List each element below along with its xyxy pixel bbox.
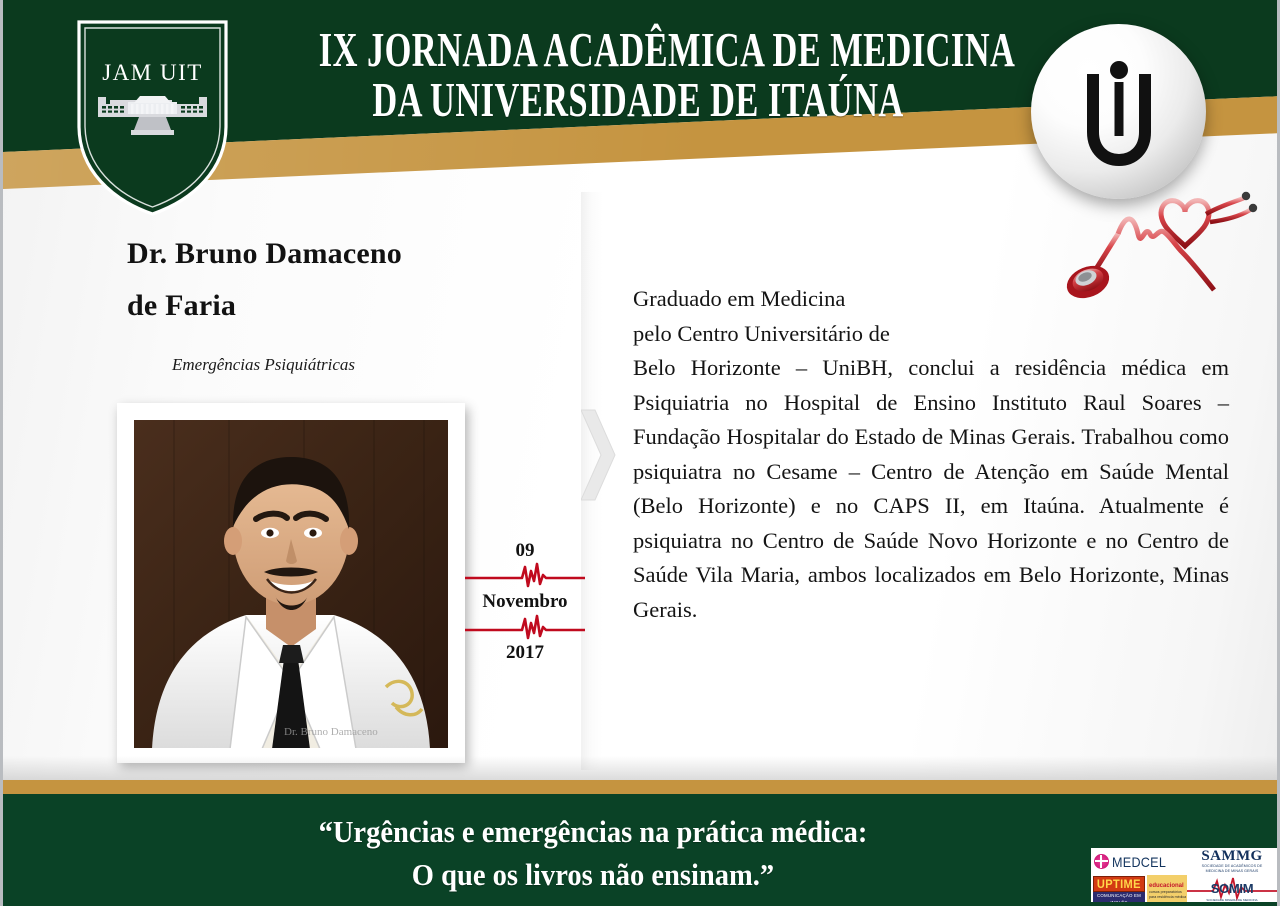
sponsor-logos: MEDCEL SAMMG SOCIEDADE DE ACADÊMICOS DE …	[1091, 848, 1277, 902]
ekg-heartbeat-rule-icon-top	[465, 562, 585, 590]
sponsor-educacional-label: educacional	[1149, 883, 1187, 890]
speaker-bio: Graduado em Medicina pelo Centro Univers…	[633, 282, 1229, 627]
sponsor-somim-label: SOMIM	[1211, 881, 1254, 896]
speaker-photo-frame: Dr. Bruno Damaceno	[117, 403, 465, 763]
tagline-line-1: “Urgências e emergências na prática médi…	[161, 810, 1026, 853]
event-poster: IX JORNADA ACADÊMICA DE MEDICINA DA UNIV…	[0, 0, 1280, 906]
event-date-month: Novembro	[465, 590, 585, 614]
sponsor-uptime-caption: COMUNICAÇÃO EM INGLÊS	[1093, 892, 1145, 902]
sponsor-educacional-sub-2: para residência médica	[1149, 895, 1187, 899]
bio-line-1: Graduado em Medicina	[633, 282, 1229, 317]
event-date-day: 09	[465, 540, 585, 562]
medcel-mark-icon	[1094, 854, 1109, 869]
title-line-2: DA UNIVERSIDADE DE ITAÚNA	[319, 70, 957, 129]
footer-sheen	[3, 756, 1280, 780]
event-tagline: “Urgências e emergências na prática médi…	[123, 810, 1063, 896]
jam-uit-shield-logo: JAM UIT	[65, 18, 240, 218]
svg-text:Dr. Bruno Damaceno: Dr. Bruno Damaceno	[284, 726, 378, 738]
shield-label: JAM UIT	[65, 60, 240, 86]
sponsor-somim: SOMIM SOCIEDADE MINEIRA DE MEDICINA	[1187, 875, 1277, 902]
tagline-line-2: O que os livros não ensinam.”	[161, 853, 1026, 896]
sponsor-row-2-left: UPTIME COMUNICAÇÃO EM INGLÊS educacional…	[1091, 875, 1187, 902]
ekg-heartbeat-rule-icon-bottom	[465, 614, 585, 642]
sponsor-uptime-label: UPTIME	[1097, 877, 1141, 891]
speaker-name-line-1: Dr. Bruno Damaceno	[127, 228, 557, 280]
speaker-photo: Dr. Bruno Damaceno	[134, 420, 448, 748]
event-date: 09 Novembro 2017	[465, 540, 585, 690]
chevron-right-icon	[581, 400, 619, 510]
sponsor-sammg-sub-2: MEDICINA DE MINAS GERAIS	[1187, 869, 1277, 874]
bio-line-2: pelo Centro Universitário de	[633, 317, 1229, 352]
sponsor-medcel: MEDCEL	[1091, 848, 1187, 875]
speaker-name: Dr. Bruno Damaceno de Faria	[127, 228, 557, 332]
page-title: IX JORNADA ACADÊMICA DE MEDICINA DA UNIV…	[258, 20, 1018, 120]
bio-body: Belo Horizonte – UniBH, conclui a residê…	[633, 355, 1229, 622]
event-date-year: 2017	[465, 642, 585, 664]
speaker-name-line-2: de Faria	[127, 280, 557, 332]
sponsor-uptime: UPTIME COMUNICAÇÃO EM INGLÊS	[1091, 875, 1147, 902]
speaker-topic: Emergências Psiquiátricas	[172, 355, 572, 375]
sponsor-sammg-label: SAMMG	[1187, 849, 1277, 864]
sponsor-sammg: SAMMG SOCIEDADE DE ACADÊMICOS DE MEDICIN…	[1187, 848, 1277, 875]
sponsor-somim-sub: SOCIEDADE MINEIRA DE MEDICINA	[1187, 898, 1277, 902]
sponsor-medcel-label: MEDCEL	[1112, 854, 1166, 870]
sponsor-educacional: educacional cursos preparatórios para re…	[1147, 875, 1187, 902]
footer-gold-strip	[3, 780, 1280, 794]
